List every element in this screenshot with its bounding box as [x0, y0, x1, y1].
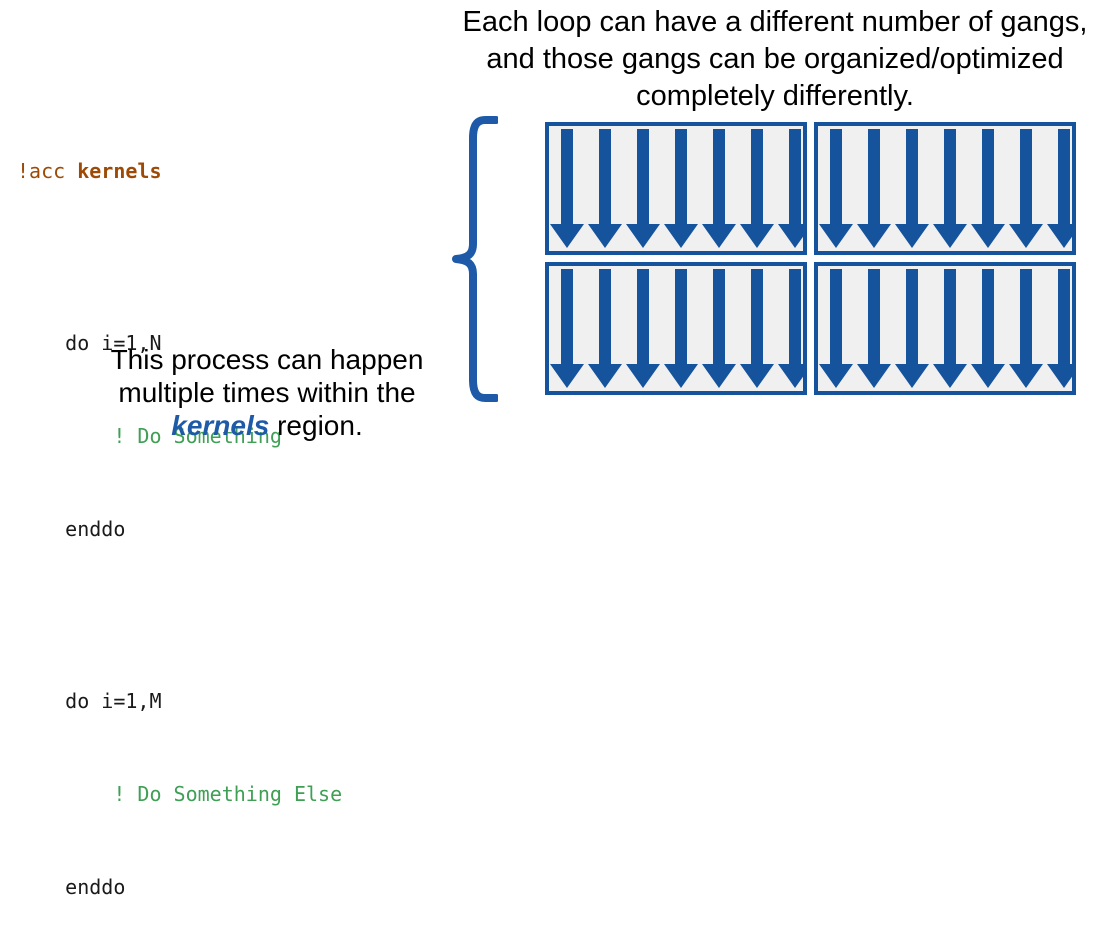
code-indent-5 — [17, 782, 113, 806]
gang-arrow-icon — [778, 269, 803, 388]
caption-line-2: multiple times within the — [62, 376, 472, 409]
gang-arrow-icon — [1047, 269, 1072, 388]
gang-arrow-icon — [778, 129, 803, 248]
caption-line-1: This process can happen — [62, 343, 472, 376]
gang-arrow-icon — [550, 269, 584, 388]
code-text-enddo-1: enddo — [65, 517, 125, 541]
code-line-directive: !acc kernels — [17, 156, 342, 187]
gang-arrow-icon — [933, 129, 967, 248]
code-line-comment-2: ! Do Something Else — [17, 779, 342, 810]
gang-arrow-icon — [702, 129, 736, 248]
gang-arrow-icon — [702, 269, 736, 388]
code-token-directive-keyword: kernels — [77, 159, 161, 183]
code-line-spacer-2 — [17, 607, 342, 624]
code-indent-4 — [17, 689, 65, 713]
gang-arrow-icon — [626, 129, 660, 248]
page-heading: Each loop can have a different number of… — [452, 4, 1098, 115]
code-text-enddo-2: enddo — [65, 875, 125, 899]
gang-arrows-top-right — [818, 126, 1072, 251]
grouping-brace-icon — [452, 116, 498, 402]
gang-arrow-icon — [1009, 129, 1043, 248]
gang-arrow-icon — [664, 129, 698, 248]
gang-arrow-icon — [740, 129, 774, 248]
gang-arrow-icon — [895, 129, 929, 248]
gang-arrows-bottom-right — [818, 266, 1072, 391]
gang-arrow-icon — [1009, 269, 1043, 388]
gang-arrow-icon — [857, 269, 891, 388]
gang-arrow-icon — [588, 269, 622, 388]
gang-arrows-top-left — [549, 126, 803, 251]
gang-arrow-icon — [664, 269, 698, 388]
caption-line-3-rest: region. — [269, 410, 362, 441]
gang-arrow-icon — [819, 269, 853, 388]
caption-line-3: kernels region. — [62, 409, 472, 442]
gang-arrow-icon — [550, 129, 584, 248]
code-token-directive-prefix: !acc — [17, 159, 77, 183]
code-text-comment-2: ! Do Something Else — [113, 782, 342, 806]
gang-arrow-icon — [1047, 129, 1072, 248]
code-text-do-m: do i=1,M — [65, 689, 161, 713]
code-line-do-m: do i=1,M — [17, 686, 342, 717]
gang-arrow-icon — [588, 129, 622, 248]
gang-boxes-grid — [545, 122, 1076, 395]
caption-kernels-emphasis: kernels — [171, 410, 269, 441]
code-line-enddo-1: enddo — [17, 514, 342, 545]
code-listing: !acc kernels do i=1,N ! Do Something end… — [17, 94, 342, 930]
loop-box-top-right[interactable] — [814, 122, 1076, 255]
gang-arrow-icon — [857, 129, 891, 248]
code-indent-6 — [17, 875, 65, 899]
gang-arrow-icon — [971, 269, 1005, 388]
gang-arrows-bottom-left — [549, 266, 803, 391]
gang-arrow-icon — [933, 269, 967, 388]
code-indent-1 — [17, 331, 65, 355]
code-caption: This process can happen multiple times w… — [62, 343, 472, 442]
code-indent-3 — [17, 517, 65, 541]
gang-arrow-icon — [740, 269, 774, 388]
gang-arrow-icon — [895, 269, 929, 388]
gang-arrow-icon — [819, 129, 853, 248]
loop-box-top-left[interactable] — [545, 122, 807, 255]
loop-box-bottom-left[interactable] — [545, 262, 807, 395]
gang-arrow-icon — [626, 269, 660, 388]
code-line-spacer-1 — [17, 249, 342, 266]
loop-box-bottom-right[interactable] — [814, 262, 1076, 395]
code-line-enddo-2: enddo — [17, 872, 342, 903]
gang-arrow-icon — [971, 129, 1005, 248]
